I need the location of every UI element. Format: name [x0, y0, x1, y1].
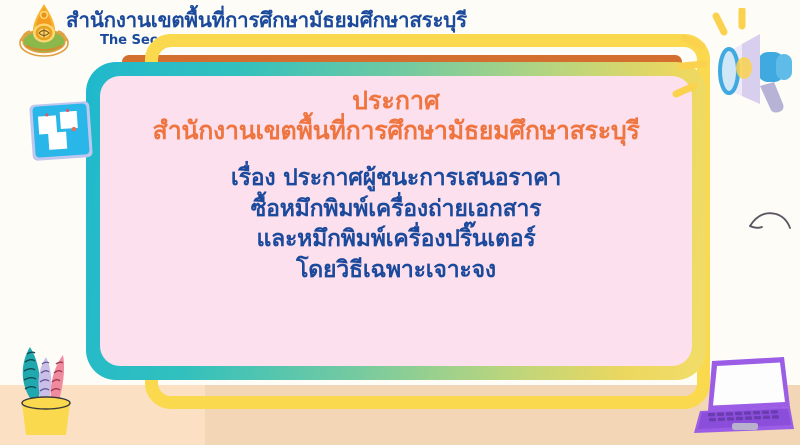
announcement-body-line: โดยวิธีเฉพาะเจาะจง — [231, 255, 561, 286]
potted-plant-icon — [8, 325, 84, 437]
announcement-body-line: และหมึกพิมพ์เครื่องปริ๊นเตอร์ — [231, 224, 561, 255]
bulletin-board-icon — [28, 100, 94, 162]
megaphone-icon — [672, 8, 800, 120]
announcement-body-line: เรื่อง ประกาศผู้ชนะการเสนอราคา — [231, 163, 561, 194]
squiggle-icon — [748, 208, 792, 240]
announcement-heading-line-1: ประกาศ — [352, 86, 440, 116]
poster-canvas: สำนักงานเขตพื้นที่การศึกษามัธยมศึกษาสระบ… — [0, 0, 800, 445]
thai-ministry-of-education-emblem — [18, 2, 70, 58]
announcement-body-line: ซื้อหมึกพิมพ์เครื่องถ่ายเอกสาร — [231, 194, 561, 225]
announcement-body: เรื่อง ประกาศผู้ชนะการเสนอราคา ซื้อหมึกพ… — [231, 163, 561, 285]
announcement-heading-line-2: สำนักงานเขตพื้นที่การศึกษามัธยมศึกษาสระบ… — [152, 116, 639, 146]
announcement-content: ประกาศ สำนักงานเขตพื้นที่การศึกษามัธยมศึ… — [100, 76, 692, 366]
laptop-icon — [690, 355, 794, 443]
